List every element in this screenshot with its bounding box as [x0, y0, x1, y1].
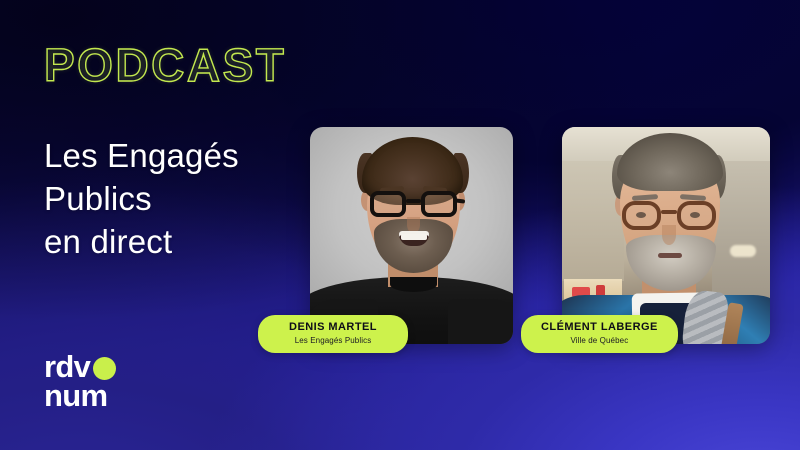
- logo-text-num: num: [44, 381, 107, 410]
- logo-line-1: rdv: [44, 352, 116, 381]
- guest-affiliation: Ville de Québec: [541, 336, 658, 346]
- lens-right: [677, 201, 716, 230]
- title-line-3: en direct: [44, 220, 239, 263]
- logo-line-2: num: [44, 381, 116, 410]
- guest-photo-clement-laberge: [562, 127, 770, 344]
- name-badge-denis-martel: DENIS MARTEL Les Engagés Publics: [258, 315, 408, 353]
- glasses-bridge: [406, 199, 421, 203]
- lens-right: [421, 191, 457, 217]
- page-title: Les Engagés Publics en direct: [44, 134, 239, 264]
- eyeglasses: [620, 201, 720, 231]
- shoulder-right: [448, 299, 513, 344]
- portrait-denis-martel: [310, 127, 513, 344]
- glasses-bridge: [661, 210, 677, 214]
- shirt-collar: [390, 277, 437, 292]
- name-badge-clement-laberge: CLÉMENT LABERGE Ville de Québec: [521, 315, 678, 353]
- portrait-clement-laberge: [562, 127, 770, 344]
- title-line-1: Les Engagés: [44, 134, 239, 177]
- brand-logo-rdvnum: rdv num: [44, 352, 116, 410]
- guest-name: DENIS MARTEL: [278, 321, 388, 334]
- podcast-promo-slide: PODCAST Les Engagés Publics en direct rd…: [0, 0, 800, 450]
- guest-name: CLÉMENT LABERGE: [541, 321, 658, 334]
- logo-dot-icon: [93, 357, 116, 380]
- eyeglasses: [367, 191, 460, 218]
- ceiling-light: [730, 245, 756, 257]
- guest-photo-denis-martel: [310, 127, 513, 344]
- title-line-2: Publics: [44, 177, 239, 220]
- logo-text-rdv: rdv: [44, 352, 90, 381]
- kicker-podcast: PODCAST: [44, 38, 286, 92]
- guest-affiliation: Les Engagés Publics: [278, 336, 388, 346]
- lens-left: [622, 201, 661, 230]
- mouth: [658, 253, 682, 258]
- lens-left: [370, 191, 406, 217]
